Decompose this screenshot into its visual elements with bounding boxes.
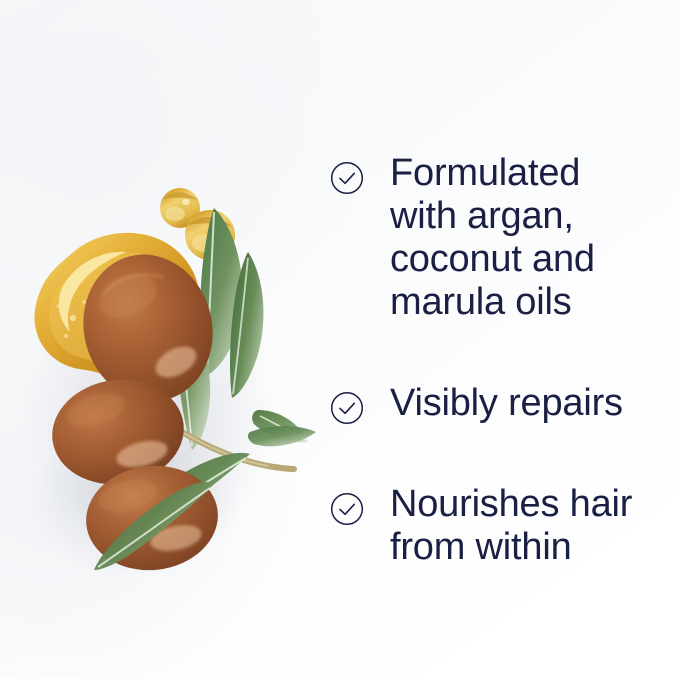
benefit-item-visibly-repairs: Visibly repairs <box>330 382 670 425</box>
product-ingredient-image <box>0 80 320 600</box>
benefit-text: Nourishes hair from within <box>390 483 632 569</box>
check-circle-icon <box>330 161 364 195</box>
check-circle-icon <box>330 391 364 425</box>
check-circle-icon <box>330 492 364 526</box>
benefit-text: Formulated with argan, coconut and marul… <box>390 152 595 324</box>
benefit-item-formulated: Formulated with argan, coconut and marul… <box>330 152 670 324</box>
benefits-list: Formulated with argan, coconut and marul… <box>330 152 670 569</box>
product-benefits-graphic: Formulated with argan, coconut and marul… <box>0 0 679 679</box>
benefit-text: Visibly repairs <box>390 382 623 425</box>
benefit-item-nourishes-hair: Nourishes hair from within <box>330 483 670 569</box>
